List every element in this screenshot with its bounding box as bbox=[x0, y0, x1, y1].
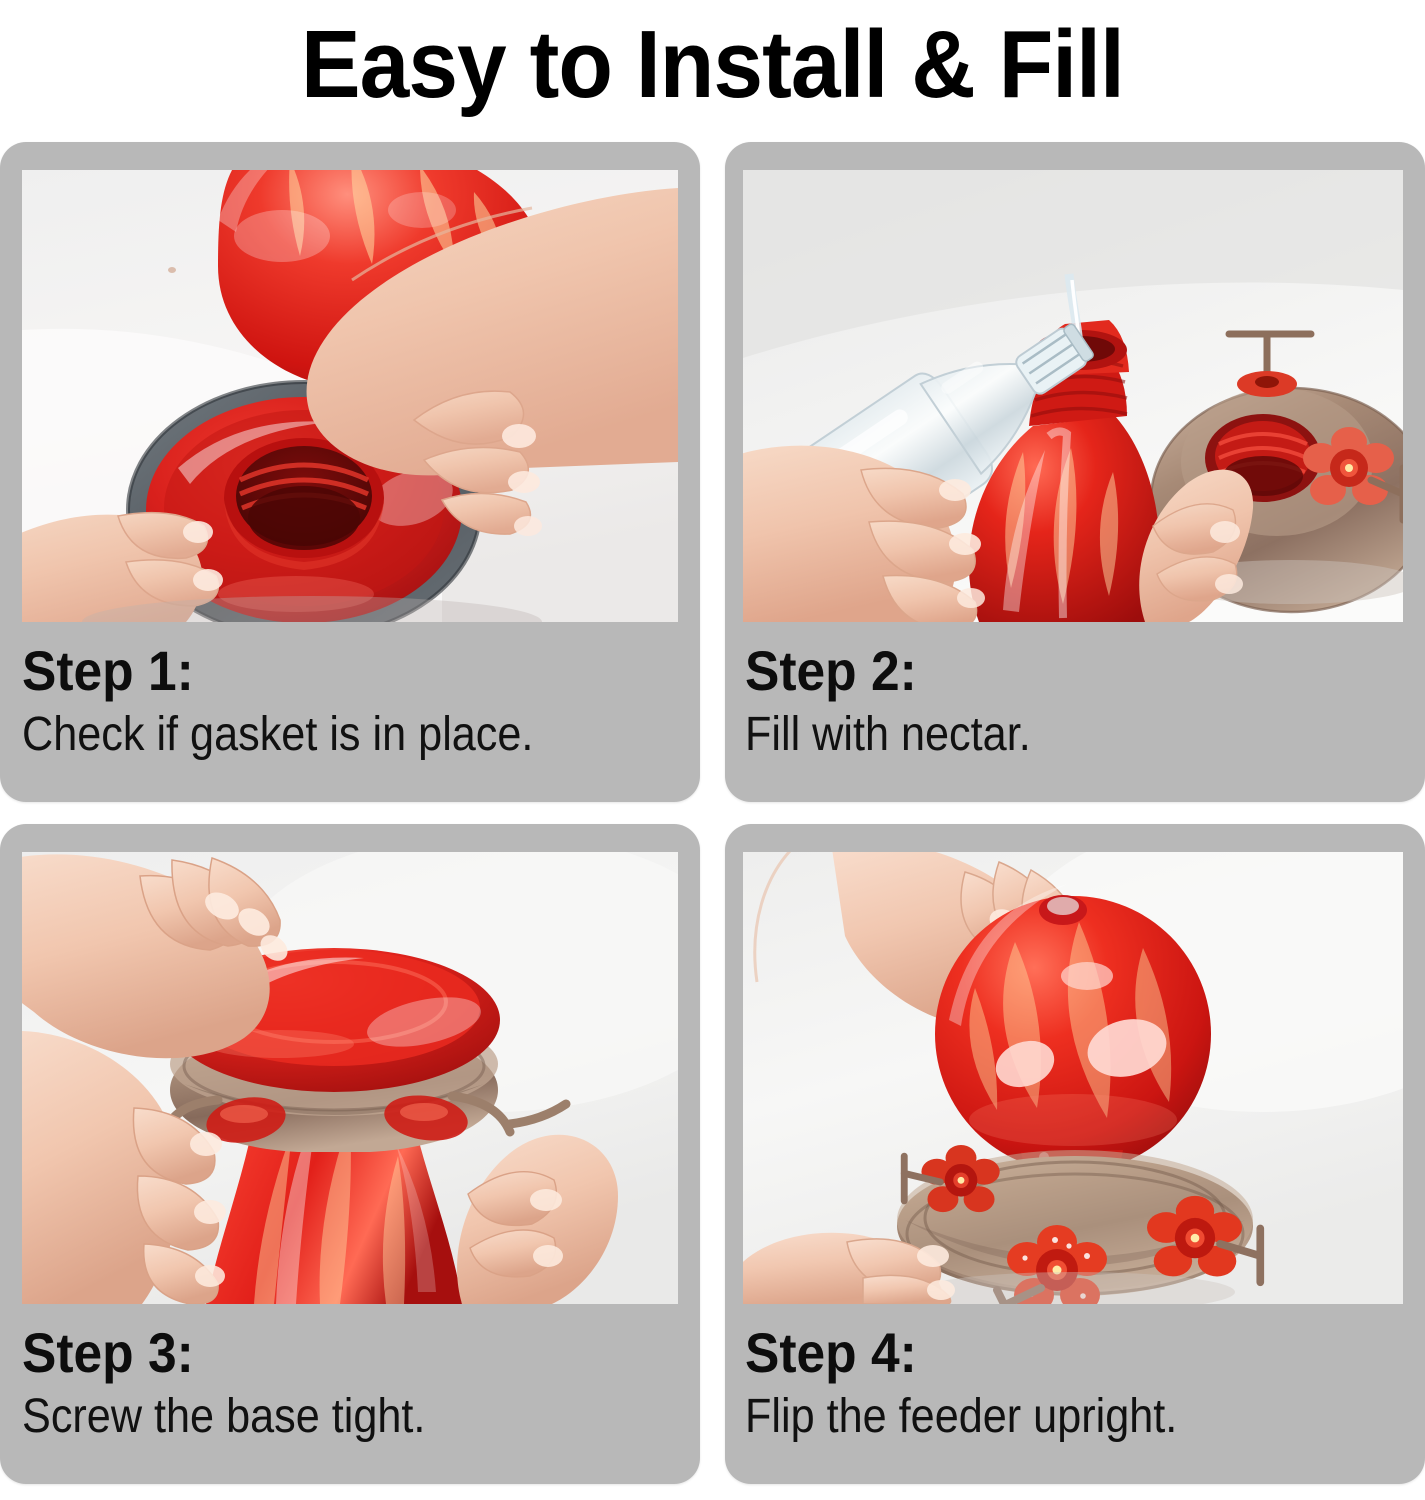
step-4-heading: Step 4: bbox=[745, 1324, 1334, 1382]
step-card-4: Step 4: Flip the feeder upright. bbox=[725, 824, 1425, 1484]
title-bar: Easy to Install & Fill bbox=[0, 0, 1425, 130]
upper-hand bbox=[22, 854, 293, 1058]
step-3-description: Screw the base tight. bbox=[22, 1390, 598, 1444]
step-1-description: Check if gasket is in place. bbox=[22, 708, 598, 762]
step-1-text-block: Step 1: Check if gasket is in place. bbox=[22, 642, 662, 762]
step-2-description: Fill with nectar. bbox=[745, 708, 1321, 762]
step-2-photo bbox=[743, 170, 1403, 622]
hands-flipping-feeder-upright-illustration bbox=[743, 852, 1403, 1304]
hands-holding-red-lid-with-gasket-illustration bbox=[22, 170, 678, 622]
step-4-text-block: Step 4: Flip the feeder upright. bbox=[745, 1324, 1385, 1444]
hands-screwing-base-illustration bbox=[22, 852, 678, 1304]
pouring-nectar-from-clear-bottle-illustration bbox=[743, 170, 1403, 622]
step-card-2: Step 2: Fill with nectar. bbox=[725, 142, 1425, 802]
step-2-heading: Step 2: bbox=[745, 642, 1334, 700]
step-4-photo bbox=[743, 852, 1403, 1304]
step-3-photo bbox=[22, 852, 678, 1304]
step-card-3: Step 3: Screw the base tight. bbox=[0, 824, 700, 1484]
step-2-text-block: Step 2: Fill with nectar. bbox=[745, 642, 1385, 762]
step-3-heading: Step 3: bbox=[22, 1324, 611, 1382]
step-1-heading: Step 1: bbox=[22, 642, 611, 700]
step-1-photo bbox=[22, 170, 678, 622]
step-3-text-block: Step 3: Screw the base tight. bbox=[22, 1324, 662, 1444]
step-card-1: Step 1: Check if gasket is in place. bbox=[0, 142, 700, 802]
page-title: Easy to Install & Fill bbox=[301, 17, 1124, 113]
step-4-description: Flip the feeder upright. bbox=[745, 1390, 1321, 1444]
steps-grid: Step 1: Check if gasket is in place. bbox=[0, 130, 1425, 1500]
